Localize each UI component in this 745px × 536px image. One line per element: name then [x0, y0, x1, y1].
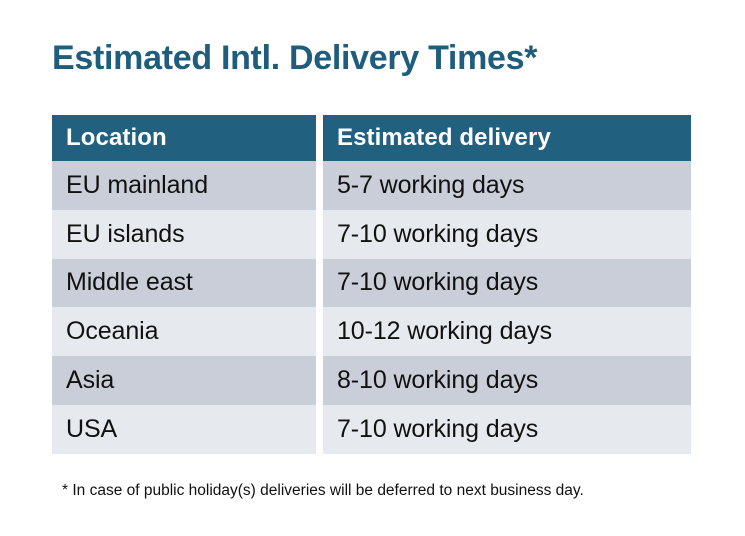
table-cell-location-text: USA [66, 417, 117, 442]
table-cell-location: EU mainland [52, 161, 316, 210]
table-column-divider [316, 115, 323, 161]
table-cell-delivery-text: 7-10 working days [337, 222, 538, 247]
table-cell-location: Oceania [52, 307, 316, 356]
table-header-label-delivery: Estimated delivery [337, 126, 551, 150]
table-header-cell-location: Location [52, 115, 316, 161]
table-cell-location: Asia [52, 356, 316, 405]
table-cell-delivery-text: 7-10 working days [337, 417, 538, 442]
table-header-row: Location Estimated delivery [52, 115, 691, 161]
table-cell-delivery-text: 5-7 working days [337, 173, 524, 198]
table-cell-delivery: 7-10 working days [323, 259, 691, 308]
table-column-divider [316, 405, 323, 454]
table-cell-location: USA [52, 405, 316, 454]
page-title: Estimated Intl. Delivery Times* [52, 36, 712, 80]
table-cell-location-text: Asia [66, 368, 114, 393]
table-cell-location-text: EU mainland [66, 173, 208, 198]
table-row: Asia 8-10 working days [52, 356, 691, 405]
estimated-delivery-times-table: Location Estimated delivery EU mainland … [52, 115, 691, 454]
table-cell-delivery-text: 10-12 working days [337, 319, 552, 344]
table-cell-location-text: EU islands [66, 222, 185, 247]
table-cell-delivery: 10-12 working days [323, 307, 691, 356]
table-cell-location: Middle east [52, 259, 316, 308]
table-row: EU mainland 5-7 working days [52, 161, 691, 210]
table-cell-delivery: 5-7 working days [323, 161, 691, 210]
table-cell-delivery-text: 8-10 working days [337, 368, 538, 393]
table-cell-delivery-text: 7-10 working days [337, 270, 538, 295]
table-row: Middle east 7-10 working days [52, 259, 691, 308]
table-column-divider [316, 259, 323, 308]
table-header-label-location: Location [66, 126, 167, 150]
table-row: Oceania 10-12 working days [52, 307, 691, 356]
table-header-cell-delivery: Estimated delivery [323, 115, 691, 161]
table-cell-delivery: 7-10 working days [323, 405, 691, 454]
table-cell-location: EU islands [52, 210, 316, 259]
table-cell-delivery: 7-10 working days [323, 210, 691, 259]
table-cell-delivery: 8-10 working days [323, 356, 691, 405]
table-cell-location-text: Middle east [66, 270, 193, 295]
table-row: EU islands 7-10 working days [52, 210, 691, 259]
table-column-divider [316, 161, 323, 210]
table-column-divider [316, 307, 323, 356]
table-column-divider [316, 356, 323, 405]
footnote: * In case of public holiday(s) deliverie… [62, 480, 722, 502]
table-column-divider [316, 210, 323, 259]
table-body: EU mainland 5-7 working days EU islands … [52, 161, 691, 454]
table-row: USA 7-10 working days [52, 405, 691, 454]
delivery-times-page: Estimated Intl. Delivery Times* Location… [0, 0, 745, 536]
table-cell-location-text: Oceania [66, 319, 158, 344]
